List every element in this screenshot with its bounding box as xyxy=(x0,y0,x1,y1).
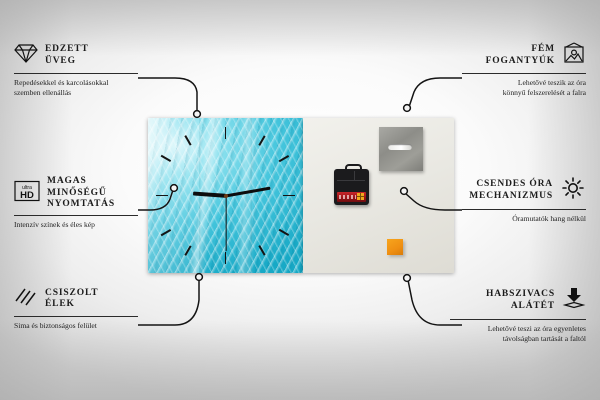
foam-pad xyxy=(387,239,403,255)
feature-foam-pad: HABSZIVACS ALÁTÉT Lehetővé teszi az óra … xyxy=(450,286,586,344)
feature-metal-handles: FÉM FOGANTYÚK Lehetővé teszik az óra kön… xyxy=(462,42,586,98)
feature-desc-line1: Óramutatók hang nélkül xyxy=(462,214,586,224)
feature-title-line2: ALÁTÉT xyxy=(486,301,555,313)
connector-dot-1 xyxy=(194,111,201,118)
feature-divider xyxy=(462,209,586,210)
clock-tick-12 xyxy=(225,127,227,139)
clock-mechanism-box xyxy=(334,169,369,205)
polished-edges-icon xyxy=(14,286,38,312)
feature-desc-line1: Sima és biztonságos felület xyxy=(14,321,138,331)
feature-divider xyxy=(14,215,138,216)
feature-divider xyxy=(450,319,586,320)
feature-divider xyxy=(462,73,586,74)
feature-title-line1: FÉM xyxy=(486,44,555,56)
feature-silent-mechanism: CSENDES ÓRA MECHANIZMUS Óramutatók hang … xyxy=(462,176,586,224)
feature-desc-line1: Intenzív színek és éles kép xyxy=(14,220,138,230)
feature-title-line2: FOGANTYÚK xyxy=(486,56,555,68)
foam-pad-icon xyxy=(562,286,586,315)
wall-hanger-icon xyxy=(562,42,586,69)
connector-line-3 xyxy=(138,279,199,325)
feature-desc-line1: Repedésekkel és karcolásokkal xyxy=(14,78,138,88)
feature-desc-line1: Lehetővé teszi az óra egyenletes xyxy=(450,324,586,334)
feature-desc-line2: távolságban tartását a faltól xyxy=(450,334,586,344)
feature-title-line1: EDZETT xyxy=(45,44,89,56)
clock-back-panel xyxy=(303,118,454,273)
connector-dot-4 xyxy=(404,105,411,112)
feature-divider xyxy=(14,73,138,74)
connector-line-4 xyxy=(408,78,462,110)
glass-clock-face xyxy=(148,118,303,273)
mechanism-seam-vertical xyxy=(354,171,355,181)
feature-title-line1: CSENDES ÓRA xyxy=(469,179,553,191)
feature-title-line1: CSISZOLT xyxy=(45,288,98,300)
feature-title-line2: MECHANIZMUS xyxy=(469,191,553,203)
clock-second-hand xyxy=(225,196,226,251)
clock-center-pivot xyxy=(224,194,228,198)
feature-title-line1: HABSZIVACS xyxy=(486,289,555,301)
connector-dot-3 xyxy=(196,274,203,281)
connector-dot-6 xyxy=(404,275,411,282)
battery-plus-terminal xyxy=(357,193,364,200)
gear-icon xyxy=(560,176,586,205)
feature-polished-edges: CSISZOLT ÉLEK Sima és biztonságos felüle… xyxy=(14,286,138,331)
clock-tick-3 xyxy=(283,195,295,197)
clock-tick-9 xyxy=(156,195,168,197)
feature-title-line2: NYOMTATÁS xyxy=(47,199,138,211)
feature-divider xyxy=(14,316,138,317)
clock-tick-6 xyxy=(225,252,227,264)
feature-title-line1: MAGAS MINŐSÉGŰ xyxy=(47,176,138,199)
hanger-keyhole-slot xyxy=(388,144,412,150)
mechanism-seam xyxy=(337,180,365,181)
product-image xyxy=(148,118,454,273)
feature-tempered-glass: EDZETT ÜVEG Repedésekkel és karcolásokka… xyxy=(14,42,138,98)
battery-label xyxy=(339,195,356,199)
connector-line-1 xyxy=(138,78,197,112)
feature-title-line2: ÜVEG xyxy=(45,56,89,68)
feature-hd-print: ultra HD MAGAS MINŐSÉGŰ NYOMTATÁS Intenz… xyxy=(14,176,138,230)
battery xyxy=(337,192,366,202)
feature-title-line2: ÉLEK xyxy=(45,299,98,311)
feature-desc-line2: szemben ellenállás xyxy=(14,88,138,98)
svg-text:HD: HD xyxy=(20,190,34,201)
feature-desc-line1: Lehetővé teszik az óra xyxy=(462,78,586,88)
metal-hanger-plate xyxy=(379,127,423,171)
diamond-icon xyxy=(14,42,38,69)
feature-desc-line2: könnyű felszerelését a falra xyxy=(462,88,586,98)
ultra-hd-icon: ultra HD xyxy=(14,180,40,207)
